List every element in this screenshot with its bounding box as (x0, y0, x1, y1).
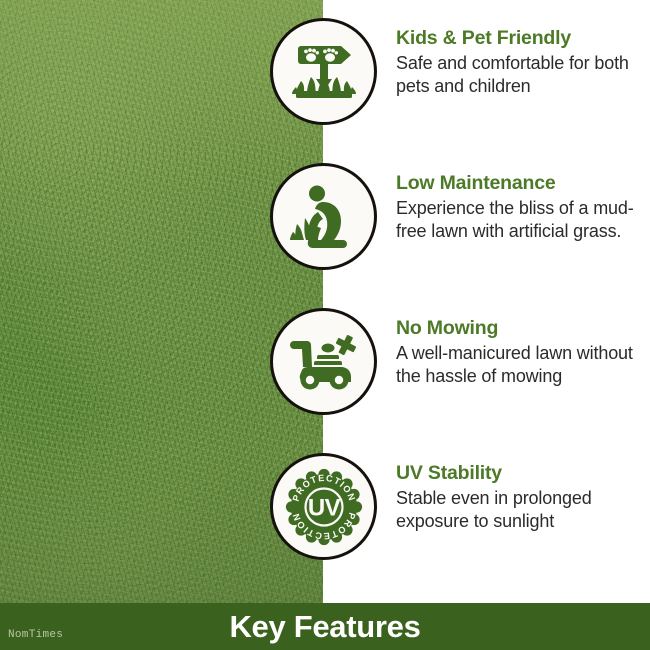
feature-item-kids-pet-friendly: Kids & Pet Friendly Safe and comfortable… (0, 18, 650, 163)
footer-title: Key Features (229, 611, 420, 642)
feature-description: Experience the bliss of a mud-free lawn … (396, 197, 644, 244)
pet-signpost-grass-icon (270, 18, 377, 125)
feature-description: Safe and comfortable for both pets and c… (396, 52, 644, 99)
feature-title: No Mowing (396, 318, 644, 340)
feature-title: UV Stability (396, 463, 644, 485)
feature-item-uv-stability: PROTECTION PROTECTION UV UV Stability St… (0, 453, 650, 598)
feature-text-block: No Mowing A well-manicured lawn without … (396, 318, 644, 389)
person-tending-grass-icon (270, 163, 377, 270)
feature-item-no-mowing: No Mowing A well-manicured lawn without … (0, 308, 650, 453)
feature-title: Kids & Pet Friendly (396, 28, 644, 50)
uv-protection-badge-icon: PROTECTION PROTECTION UV (270, 453, 377, 560)
infographic-poster: Kids & Pet Friendly Safe and comfortable… (0, 0, 650, 650)
lawn-mower-crossed-out-icon (270, 308, 377, 415)
feature-description: Stable even in prolonged exposure to sun… (396, 487, 644, 534)
feature-description: A well-manicured lawn without the hassle… (396, 342, 644, 389)
uv-center-label: UV (307, 494, 340, 521)
footer-bar: Key Features (0, 603, 650, 650)
feature-text-block: UV Stability Stable even in prolonged ex… (396, 463, 644, 534)
feature-text-block: Low Maintenance Experience the bliss of … (396, 173, 644, 244)
feature-title: Low Maintenance (396, 173, 644, 195)
feature-item-low-maintenance: Low Maintenance Experience the bliss of … (0, 163, 650, 308)
feature-text-block: Kids & Pet Friendly Safe and comfortable… (396, 28, 644, 99)
watermark-label: NomTimes (8, 630, 63, 641)
